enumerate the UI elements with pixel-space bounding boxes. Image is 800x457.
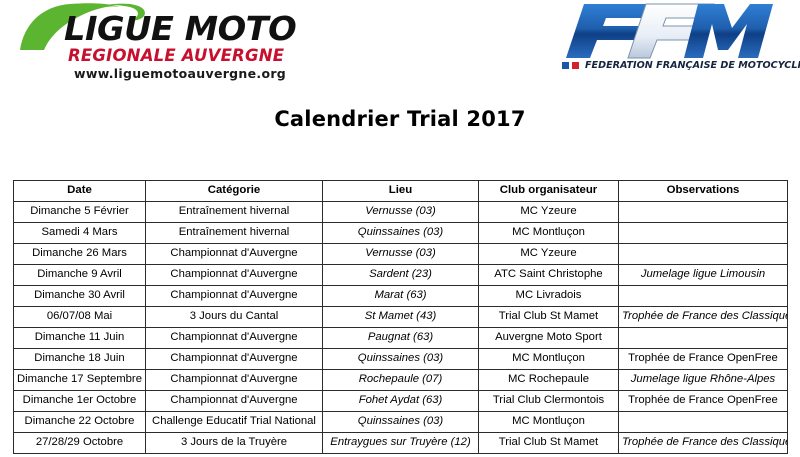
cell-observations: Trophée de France OpenFree	[619, 391, 788, 412]
page-title: Calendrier Trial 2017	[0, 107, 800, 131]
cell-observations: Trophée de France OpenFree	[619, 349, 788, 370]
cell-observations	[619, 202, 788, 223]
cell-observations	[619, 412, 788, 433]
cell-lieu: Rochepaule (07)	[323, 370, 479, 391]
cell-club: MC Livradois	[479, 286, 619, 307]
cell-lieu: Vernusse (03)	[323, 202, 479, 223]
cell-club: MC Montluçon	[479, 412, 619, 433]
cell-lieu: Fohet Aydat (63)	[323, 391, 479, 412]
column-header-date: Date	[14, 181, 146, 202]
cell-date: Dimanche 17 Septembre	[14, 370, 146, 391]
cell-observations: Jumelage ligue Rhône-Alpes	[619, 370, 788, 391]
cell-categorie: Championnat d'Auvergne	[146, 286, 323, 307]
ffm-tagline: FEDERATION FRANÇAISE DE MOTOCYCLISME	[585, 60, 800, 71]
column-header-lieu: Lieu	[323, 181, 479, 202]
table-row: Dimanche 1er OctobreChampionnat d'Auverg…	[14, 391, 788, 412]
cell-lieu: Entraygues sur Truyère (12)	[323, 433, 479, 454]
cell-date: Dimanche 26 Mars	[14, 244, 146, 265]
cell-club: Trial Club St Mamet	[479, 433, 619, 454]
table-body: Dimanche 5 FévrierEntraînement hivernalV…	[14, 202, 788, 454]
ffm-monogram-icon	[562, 2, 774, 60]
cell-observations: Trophée de France des Classiques	[619, 433, 788, 454]
cell-date: Dimanche 22 Octobre	[14, 412, 146, 433]
red-square-icon	[572, 62, 579, 69]
cell-observations	[619, 286, 788, 307]
table-row: Samedi 4 MarsEntraînement hivernalQuinss…	[14, 223, 788, 244]
column-header-observations: Observations	[619, 181, 788, 202]
cell-club: Trial Club St Mamet	[479, 307, 619, 328]
cell-lieu: Quinssaines (03)	[323, 223, 479, 244]
cell-categorie: Championnat d'Auvergne	[146, 244, 323, 265]
cell-observations: Jumelage ligue Limousin	[619, 265, 788, 286]
cell-club: MC Montluçon	[479, 223, 619, 244]
table-header-row: Date Catégorie Lieu Club organisateur Ob…	[14, 181, 788, 202]
cell-lieu: Paugnat (63)	[323, 328, 479, 349]
table-row: Dimanche 17 SeptembreChampionnat d'Auver…	[14, 370, 788, 391]
ffm-logo: FEDERATION FRANÇAISE DE MOTOCYCLISME	[548, 2, 788, 82]
cell-date: Dimanche 5 Février	[14, 202, 146, 223]
cell-date: 27/28/29 Octobre	[14, 433, 146, 454]
page-header: LIGUE MOTO REGIONALE AUVERGNE www.liguem…	[0, 0, 800, 90]
cell-club: Auvergne Moto Sport	[479, 328, 619, 349]
cell-categorie: Entraînement hivernal	[146, 202, 323, 223]
cell-observations	[619, 223, 788, 244]
blue-square-icon	[562, 62, 569, 69]
ligue-moto-logo: LIGUE MOTO REGIONALE AUVERGNE www.liguem…	[18, 2, 278, 86]
table-row: Dimanche 11 JuinChampionnat d'AuvergnePa…	[14, 328, 788, 349]
ligue-wordmark: LIGUE MOTO	[64, 12, 296, 45]
table-row: Dimanche 9 AvrilChampionnat d'AuvergneSa…	[14, 265, 788, 286]
cell-lieu: Sardent (23)	[323, 265, 479, 286]
cell-date: Dimanche 18 Juin	[14, 349, 146, 370]
cell-categorie: 3 Jours du Cantal	[146, 307, 323, 328]
cell-club: MC Rochepaule	[479, 370, 619, 391]
table-row: 27/28/29 Octobre3 Jours de la TruyèreEnt…	[14, 433, 788, 454]
cell-lieu: Quinssaines (03)	[323, 349, 479, 370]
cell-categorie: Championnat d'Auvergne	[146, 391, 323, 412]
cell-categorie: Entraînement hivernal	[146, 223, 323, 244]
cell-date: Dimanche 30 Avril	[14, 286, 146, 307]
cell-date: Dimanche 1er Octobre	[14, 391, 146, 412]
cell-observations	[619, 328, 788, 349]
cell-lieu: St Mamet (43)	[323, 307, 479, 328]
cell-lieu: Quinssaines (03)	[323, 412, 479, 433]
cell-observations	[619, 244, 788, 265]
trial-calendar-table: Date Catégorie Lieu Club organisateur Ob…	[13, 180, 788, 454]
table-row: 06/07/08 Mai3 Jours du CantalSt Mamet (4…	[14, 307, 788, 328]
cell-club: MC Yzeure	[479, 244, 619, 265]
cell-categorie: Championnat d'Auvergne	[146, 265, 323, 286]
cell-lieu: Vernusse (03)	[323, 244, 479, 265]
table-row: Dimanche 18 JuinChampionnat d'AuvergneQu…	[14, 349, 788, 370]
cell-categorie: Championnat d'Auvergne	[146, 328, 323, 349]
column-header-categorie: Catégorie	[146, 181, 323, 202]
cell-club: MC Yzeure	[479, 202, 619, 223]
cell-club: Trial Club Clermontois	[479, 391, 619, 412]
cell-observations: Trophée de France des Classiques	[619, 307, 788, 328]
table-row: Dimanche 26 MarsChampionnat d'AuvergneVe…	[14, 244, 788, 265]
cell-club: MC Montluçon	[479, 349, 619, 370]
cell-date: Dimanche 9 Avril	[14, 265, 146, 286]
table-row: Dimanche 22 OctobreChallenge Educatif Tr…	[14, 412, 788, 433]
cell-club: ATC Saint Christophe	[479, 265, 619, 286]
cell-categorie: Challenge Educatif Trial National	[146, 412, 323, 433]
table-row: Dimanche 5 FévrierEntraînement hivernalV…	[14, 202, 788, 223]
column-header-club: Club organisateur	[479, 181, 619, 202]
cell-date: 06/07/08 Mai	[14, 307, 146, 328]
cell-categorie: Championnat d'Auvergne	[146, 370, 323, 391]
ligue-subtitle: REGIONALE AUVERGNE	[68, 46, 284, 65]
ffm-tagline-row: FEDERATION FRANÇAISE DE MOTOCYCLISME	[562, 60, 800, 71]
cell-date: Dimanche 11 Juin	[14, 328, 146, 349]
table-row: Dimanche 30 AvrilChampionnat d'AuvergneM…	[14, 286, 788, 307]
cell-categorie: Championnat d'Auvergne	[146, 349, 323, 370]
ligue-website-url: www.liguemotoauvergne.org	[74, 66, 286, 81]
cell-date: Samedi 4 Mars	[14, 223, 146, 244]
cell-lieu: Marat (63)	[323, 286, 479, 307]
cell-categorie: 3 Jours de la Truyère	[146, 433, 323, 454]
